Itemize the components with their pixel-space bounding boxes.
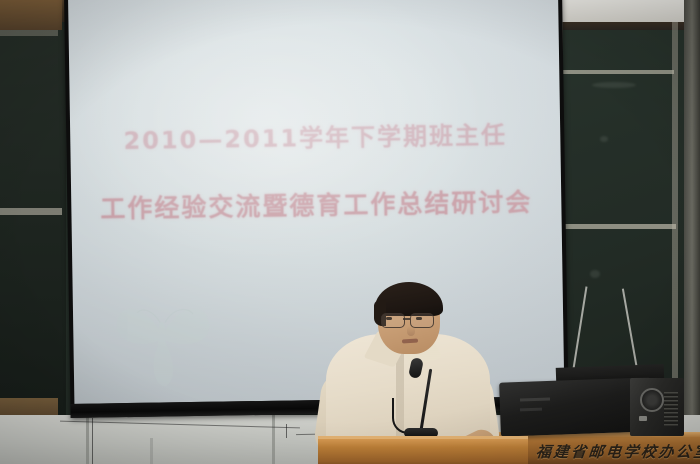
lens-left <box>381 313 405 328</box>
wall-pillar-right <box>684 0 700 430</box>
chalk-smudge <box>590 270 600 278</box>
slide-title-line-2: 工作经验交流暨德育工作总结研讨会 <box>71 182 562 226</box>
slide-title-line-1: 2010—2011学年下学期班主任 <box>70 114 560 157</box>
blackboard-track-right <box>672 22 678 422</box>
wall-seam <box>272 415 275 464</box>
blackboard-left-panel <box>0 22 66 422</box>
photograph: 2010—2011学年下学期班主任 工作经验交流暨德育工作总结研讨会 <box>0 0 700 464</box>
lens-right <box>410 313 434 328</box>
podium <box>318 436 528 464</box>
blackboard-rail-left <box>0 208 62 215</box>
wood-trim-top-left <box>0 0 62 30</box>
watermark-text: 福建省邮电学校办公室 <box>535 441 697 463</box>
cable-drop <box>286 424 287 438</box>
butterfly-icon <box>103 282 223 394</box>
blackboard-rail-mid <box>562 224 676 229</box>
blackboard-rail-top <box>562 70 674 74</box>
chalk-smudge <box>600 136 608 142</box>
wall-seam <box>150 438 153 464</box>
power-button[interactable] <box>639 416 647 421</box>
fan-icon <box>640 388 664 412</box>
tower-vent-grill <box>664 392 678 426</box>
cable-drop <box>92 418 93 464</box>
glasses-bridge <box>403 318 410 320</box>
blackboard-rail-upper-left <box>0 30 58 36</box>
chalk-smudge <box>592 82 636 88</box>
eyeglasses-icon <box>380 313 438 326</box>
ceiling-panel-right <box>548 0 700 22</box>
pc-tower <box>630 378 684 436</box>
